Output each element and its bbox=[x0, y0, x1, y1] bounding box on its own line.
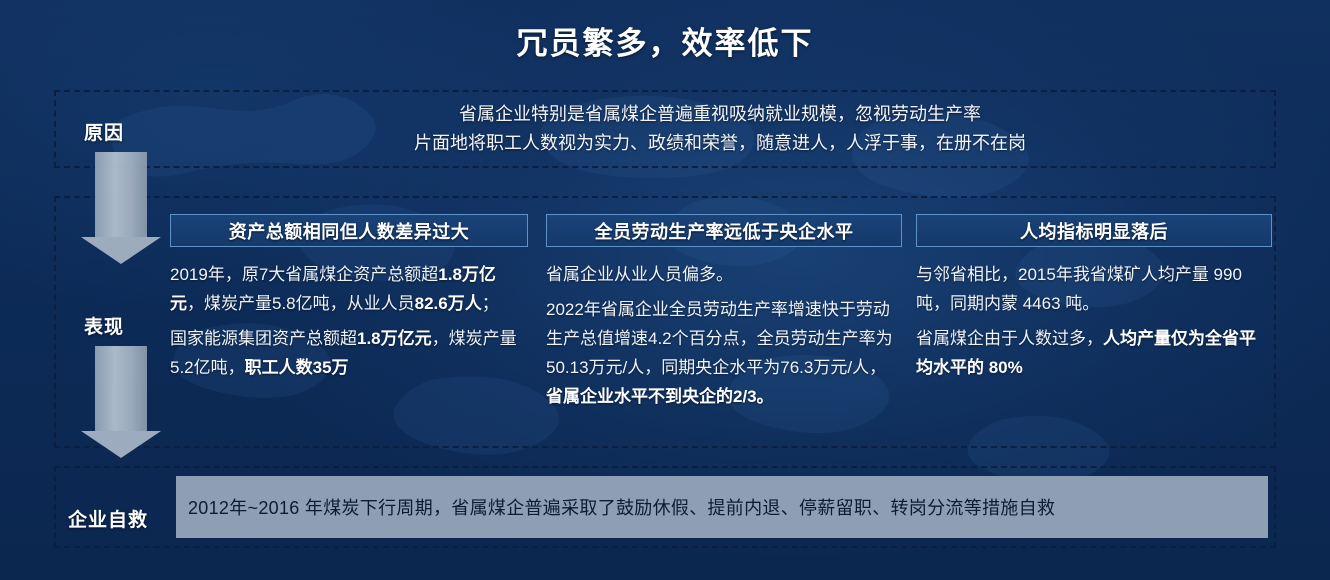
column-body: 2019年，原7大省属煤企资产总额超1.8万亿元，煤炭产量5.8亿吨，从业人员8… bbox=[170, 260, 528, 382]
emphasis-text: 职工人数35万 bbox=[245, 358, 349, 377]
row-label-rescue: 企业自救 bbox=[68, 505, 148, 532]
body-text: ，煤炭产量5.8亿吨，从业人员 bbox=[187, 294, 415, 313]
expression-column: 资产总额相同但人数差异过大 2019年，原7大省属煤企资产总额超1.8万亿元，煤… bbox=[170, 214, 528, 388]
body-text: 与邻省相比，2015年我省煤矿人均产量 990吨，同期内蒙 4463 吨。 bbox=[916, 265, 1242, 313]
down-arrow-icon bbox=[95, 346, 147, 432]
paragraph: 省属煤企由于人数过多，人均产量仅为全省平均水平的 80% bbox=[916, 324, 1272, 382]
row-label-expression: 表现 bbox=[84, 312, 124, 339]
cause-line-2: 片面地将职工人数视为实力、政绩和荣誉，随意进人，人浮于事，在册不在岗 bbox=[190, 129, 1250, 158]
emphasis-text: 1.8万亿元 bbox=[357, 329, 432, 348]
expression-column: 全员劳动生产率远低于央企水平 省属企业从业人员偏多。2022年省属企业全员劳动生… bbox=[546, 214, 902, 417]
paragraph: 省属企业从业人员偏多。 bbox=[546, 260, 902, 289]
column-body: 与邻省相比，2015年我省煤矿人均产量 990吨，同期内蒙 4463 吨。省属煤… bbox=[916, 260, 1272, 382]
body-text: 省属企业从业人员偏多。 bbox=[546, 265, 733, 284]
rescue-description: 2012年~2016 年煤炭下行周期，省属煤企普遍采取了鼓励休假、提前内退、停薪… bbox=[176, 494, 1055, 520]
body-text: 国家能源集团资产总额超 bbox=[170, 329, 357, 348]
column-body: 省属企业从业人员偏多。2022年省属企业全员劳动生产率增速快于劳动生产总值增速4… bbox=[546, 260, 902, 411]
column-header: 全员劳动生产率远低于央企水平 bbox=[546, 214, 902, 247]
column-header: 资产总额相同但人数差异过大 bbox=[170, 214, 528, 247]
body-text: ； bbox=[482, 294, 499, 313]
paragraph: 2022年省属企业全员劳动生产率增速快于劳动生产总值增速4.2个百分点，全员劳动… bbox=[546, 295, 902, 411]
rescue-bar: 2012年~2016 年煤炭下行周期，省属煤企普遍采取了鼓励休假、提前内退、停薪… bbox=[176, 476, 1268, 538]
emphasis-text: 82.6万人 bbox=[415, 294, 482, 313]
paragraph: 国家能源集团资产总额超1.8万亿元，煤炭产量5.2亿吨，职工人数35万 bbox=[170, 324, 528, 382]
paragraph: 与邻省相比，2015年我省煤矿人均产量 990吨，同期内蒙 4463 吨。 bbox=[916, 260, 1272, 318]
body-text: 2022年省属企业全员劳动生产率增速快于劳动生产总值增速4.2个百分点，全员劳动… bbox=[546, 300, 893, 377]
down-arrow-icon bbox=[95, 152, 147, 238]
cause-line-1: 省属企业特别是省属煤企普遍重视吸纳就业规模，忽视劳动生产率 bbox=[190, 100, 1250, 129]
expression-column: 人均指标明显落后 与邻省相比，2015年我省煤矿人均产量 990吨，同期内蒙 4… bbox=[916, 214, 1272, 388]
column-header: 人均指标明显落后 bbox=[916, 214, 1272, 247]
paragraph: 2019年，原7大省属煤企资产总额超1.8万亿元，煤炭产量5.8亿吨，从业人员8… bbox=[170, 260, 528, 318]
body-text: 省属煤企由于人数过多， bbox=[916, 329, 1103, 348]
row-label-cause: 原因 bbox=[84, 118, 124, 145]
body-text: 2019年，原7大省属煤企资产总额超 bbox=[170, 265, 438, 284]
page-title: 冗员繁多，效率低下 bbox=[0, 18, 1330, 63]
cause-description: 省属企业特别是省属煤企普遍重视吸纳就业规模，忽视劳动生产率 片面地将职工人数视为… bbox=[190, 100, 1250, 158]
emphasis-text: 省属企业水平不到央企的2/3。 bbox=[546, 387, 774, 406]
